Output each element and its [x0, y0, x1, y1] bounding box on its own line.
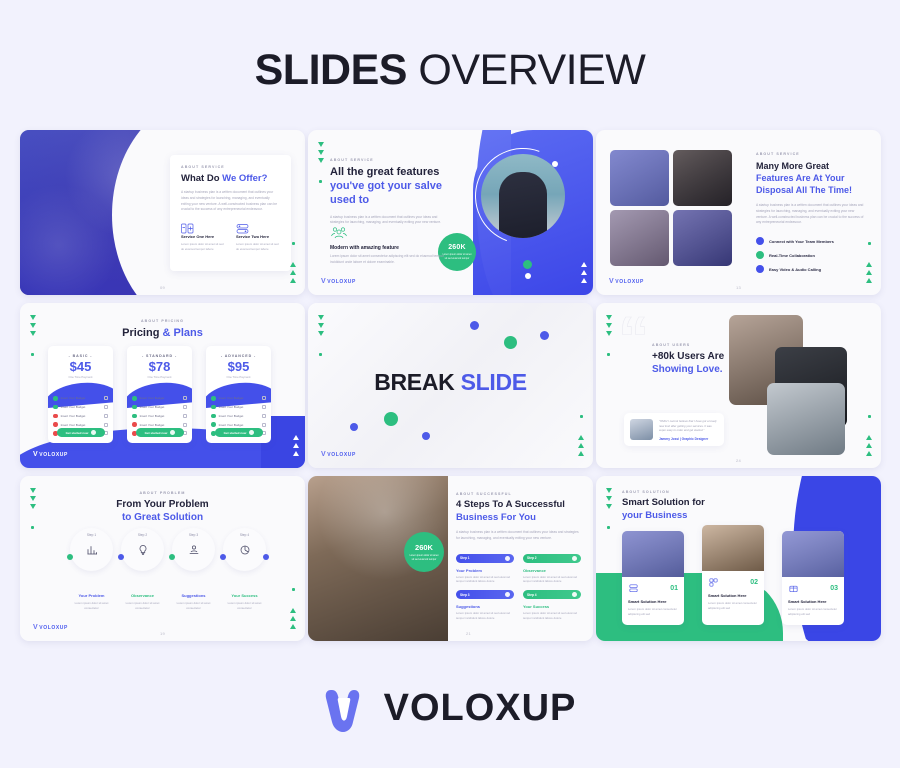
slide-pricing-plans[interactable]: ABOUT PRICING Pricing & Plans - BASIC - …	[20, 303, 305, 468]
feature-tail-icon	[262, 405, 266, 409]
slide-many-more-great[interactable]: ABOUT SERVICE Many More Great Features A…	[596, 130, 881, 295]
slide7-step-3-title: Suggestions	[168, 593, 219, 598]
triangle-down-icon	[606, 488, 612, 493]
slide9-card-3-number: 03	[830, 585, 838, 592]
slide7-deco-triangles-right	[290, 608, 296, 629]
check-icon	[211, 414, 216, 419]
slide5-deco-triangles-right	[578, 435, 584, 456]
slide-from-your-problem[interactable]: ABOUT PROBLEM From Your Problem to Great…	[20, 476, 305, 641]
triangle-down-icon	[606, 496, 612, 501]
slide-four-steps[interactable]: 260K Lorem ipsum dolor sit amet sit sed …	[308, 476, 593, 641]
slide6-photo-3	[767, 383, 845, 455]
slide1-feature-2: Service Two Here Lorem ipsum dolor sit a…	[236, 223, 280, 252]
slide1-title-blue: We Offer?	[222, 173, 267, 184]
chip-label: Step 2	[527, 556, 537, 560]
footer-brand: VOLOXUP	[0, 684, 900, 732]
list-item: Insert Your Budget	[132, 414, 187, 419]
slide7-step-2-title: Observance	[117, 593, 168, 598]
phone-icon	[756, 265, 764, 273]
layers-icon	[628, 583, 639, 594]
slide8-chip-2[interactable]: Step 2	[523, 554, 581, 563]
slide1-deco-triangles-right	[290, 262, 296, 283]
slide7-step-3: Step 3 Suggestions Lorem ipsum dolor sit…	[168, 528, 219, 611]
slide7-steps: Step 1 Your Problem Lorem ipsum dolor si…	[66, 528, 270, 611]
slide7-step-4-title: Your Success	[219, 593, 270, 598]
feature-label: Insert Your Budget	[140, 423, 165, 427]
slide8-step-4-desc: Lorem ipsum dolor sit amet sit sed eiusm…	[523, 611, 581, 621]
slide2-logo: V VOLOXUP	[321, 278, 356, 285]
slide2-title-blue: you've got your salve used to	[330, 180, 442, 206]
slide1-title-dark: What Do	[181, 173, 222, 184]
pricing-card-basic-cta[interactable]: Get started now	[57, 428, 105, 437]
chip-label: Step 4	[527, 593, 537, 597]
slide2-feature-desc: Lorem ipsum dolor sit amet consectetur a…	[330, 254, 450, 266]
triangle-up-icon	[290, 616, 296, 621]
triangle-up-icon	[578, 435, 584, 440]
slide8-chip-3[interactable]: Step 3	[456, 590, 514, 599]
slide5-dot-4	[350, 423, 358, 431]
slide8-step-3-title: Suggestions	[456, 604, 514, 609]
pricing-card-advanced-name: - ADVANCED -	[206, 354, 271, 358]
chip-label: Step 1	[460, 556, 470, 560]
slide3-logo-text: VOLOXUP	[615, 279, 644, 285]
slide2-title-dark: All the great features	[330, 166, 439, 178]
slide2-portrait-photo	[481, 154, 565, 238]
list-item: Easy Video & Audio Calling	[756, 265, 866, 273]
slide6-title-dark: +80k Users Are	[652, 351, 724, 362]
feature-label: Insert Your Budget	[61, 405, 86, 409]
slide7-step-3-caption: Suggestions Lorem ipsum dolor sit amet c…	[168, 593, 219, 611]
slide-break[interactable]: BREAK SLIDE V VOLOXUP	[308, 303, 593, 468]
slide5-title-blue: SLIDE	[461, 369, 527, 395]
slide9-card-2-thumb	[702, 525, 764, 571]
slide7-step-4-label: Step 4	[219, 533, 270, 537]
slide8-step-2-title: Observance	[523, 568, 581, 573]
slide1-feature-2-desc: Lorem ipsum dolor sit amet sit sed do ei…	[236, 242, 280, 252]
slide7-step-4: Step 4 Your Success Lorem ipsum dolor si…	[219, 528, 270, 611]
package-icon	[788, 583, 799, 594]
slide5-title-dark: BREAK	[374, 369, 460, 395]
slide9-card-2-desc: Lorem ipsum dolor sit amet consectetur a…	[708, 601, 758, 611]
slide7-step-1-caption: Your Problem Lorem ipsum dolor sit amet …	[66, 593, 117, 611]
slide4-title-blue: & Plans	[162, 327, 202, 339]
triangle-down-icon	[318, 158, 324, 163]
slide9-card-1[interactable]: 01 Smart Solution Here Lorem ipsum dolor…	[622, 531, 684, 625]
slide7-deco-triangles-left	[30, 488, 36, 509]
slide9-card-3-desc: Lorem ipsum dolor sit amet consectetur a…	[788, 607, 838, 617]
slide2-feature-title: Modern with amazing feature	[330, 245, 450, 251]
slide5-dot-5	[384, 412, 398, 426]
slide3-deco-dot	[868, 242, 871, 245]
slide6-deco-dot-right	[868, 415, 871, 418]
slide8-title-blue: Business For You	[456, 512, 536, 523]
pricing-card-standard-sub: One Time Payment	[127, 375, 192, 379]
feature-label: Insert Your Budget	[140, 405, 165, 409]
slide7-node-3	[169, 554, 175, 560]
list-item: Insert Your Budget	[211, 405, 266, 410]
slide8-badge-caption: Lorem ipsum dolor sit amet sit sed eiusm…	[404, 554, 444, 561]
slide3-photo-grid	[610, 150, 732, 266]
pricing-card-standard-name: - STANDARD -	[127, 354, 192, 358]
pricing-card-advanced[interactable]: - ADVANCED - $95 One Time Payment Insert…	[206, 346, 271, 443]
slide7-logo-text: VOLOXUP	[39, 625, 68, 631]
arrow-right-icon	[572, 556, 577, 561]
triangle-up-icon	[578, 451, 584, 456]
slide9-card-3[interactable]: 03 Smart Solution Here Lorem ipsum dolor…	[782, 531, 844, 625]
slide2-body: A startup business plan is a written doc…	[330, 215, 450, 227]
slide7-title-dark: From Your Problem	[116, 499, 208, 510]
triangle-down-icon	[318, 315, 324, 320]
triangle-down-icon	[606, 315, 612, 320]
check-icon	[53, 396, 58, 401]
slide8-chip-4[interactable]: Step 4	[523, 590, 581, 599]
cross-icon	[53, 414, 58, 419]
pricing-card-basic[interactable]: - BASIC - $45 One Time Payment Insert Yo…	[48, 346, 113, 443]
triangle-up-icon	[290, 278, 296, 283]
slide7-node-1	[67, 554, 73, 560]
slide3-list-label-2: Real-Time Collaboration	[769, 253, 815, 258]
page-title-bold: SLIDES	[255, 46, 407, 94]
slide1-body: A startup business plan is a written doc…	[181, 190, 280, 213]
slide9-card-1-desc: Lorem ipsum dolor sit amet consectetur a…	[628, 607, 678, 617]
slide6-deco-triangles-right	[866, 435, 872, 456]
slide8-step-3: Step 3 Suggestions Lorem ipsum dolor sit…	[456, 590, 514, 621]
slide4-pricing-cards: - BASIC - $45 One Time Payment Insert Yo…	[48, 346, 271, 443]
triangle-up-icon	[581, 270, 587, 275]
pricing-card-standard-price: $78	[127, 359, 192, 374]
slide3-page-number: 13	[736, 285, 741, 290]
slide2-logo-text: VOLOXUP	[327, 279, 356, 285]
triangle-up-icon	[290, 624, 296, 629]
slide1-page-number: 09	[160, 285, 165, 290]
slide9-deco-triangles-left	[606, 488, 612, 509]
list-item: Insert Your Budget	[211, 414, 266, 419]
slide8-step-1-desc: Lorem ipsum dolor sit amet sit sed eiusm…	[456, 575, 514, 585]
page-title-light: OVERVIEW	[418, 46, 645, 94]
slide9-cards: 01 Smart Solution Here Lorem ipsum dolor…	[622, 531, 844, 625]
brand-mark-icon: V	[33, 451, 38, 458]
slide7-node-end	[263, 554, 269, 560]
arrow-right-icon	[505, 556, 510, 561]
pricing-card-advanced-cta[interactable]: Get started now	[215, 428, 263, 437]
brand-mark-icon: V	[33, 624, 38, 631]
slide3-photo-1	[610, 150, 669, 206]
slide1-title: What Do We Offer?	[181, 173, 280, 184]
cross-icon	[53, 422, 58, 427]
refresh-icon	[756, 251, 764, 259]
slide6-testimonial-text: "OMG! I cannot believe that I have got a…	[659, 419, 718, 440]
arrow-right-icon	[91, 430, 96, 435]
slide5-deco-triangles-left	[318, 315, 324, 336]
triangle-down-icon	[30, 315, 36, 320]
triangle-down-icon	[318, 331, 324, 336]
triangle-up-icon	[293, 451, 299, 456]
slide4-title-dark: Pricing	[122, 327, 162, 339]
slide3-logo: V VOLOXUP	[609, 278, 644, 285]
check-icon	[132, 396, 137, 401]
feature-label: Insert Your Budget	[219, 423, 244, 427]
triangle-up-icon	[581, 278, 587, 283]
pricing-card-advanced-sub: One Time Payment	[206, 375, 271, 379]
slide8-chip-1[interactable]: Step 1	[456, 554, 514, 563]
triangle-up-icon	[866, 435, 872, 440]
list-item: Insert Your Budget	[53, 414, 108, 419]
slide1-feature-2-title: Service Two Here	[236, 234, 280, 239]
triangle-up-icon	[581, 262, 587, 267]
feature-tail-icon	[183, 423, 187, 427]
slide7-page-number: 19	[160, 631, 165, 636]
slide3-body: A startup business plan is a written doc…	[756, 203, 866, 226]
feature-label: Insert Your Budget	[140, 396, 165, 400]
slide2-title: All the great features you've got your s…	[330, 166, 450, 208]
page-title-space	[407, 46, 418, 94]
quote-mark-icon: “	[618, 315, 643, 365]
slide3-eyebrow: ABOUT SERVICE	[756, 152, 866, 156]
slide8-steps: Step 1 Your Problem Lorem ipsum dolor si…	[456, 554, 581, 621]
slide2-green-dot-2	[523, 260, 532, 269]
slide7-step-1: Step 1 Your Problem Lorem ipsum dolor si…	[66, 528, 117, 611]
slide9-card-3-row: 03	[788, 583, 838, 594]
pricing-card-standard-cta[interactable]: Get started now	[136, 428, 184, 437]
slide4-logo: V VOLOXUP	[33, 451, 68, 458]
feature-tail-icon	[104, 405, 108, 409]
slide2-eyebrow: ABOUT SERVICE	[330, 158, 450, 162]
arrow-right-icon	[505, 592, 510, 597]
feature-tail-icon	[183, 396, 187, 400]
slide8-badge-value: 260K	[404, 543, 444, 552]
slide5-logo-text: VOLOXUP	[327, 452, 356, 458]
slide3-deco-triangles-right	[866, 262, 872, 283]
slide5-logo: V VOLOXUP	[321, 451, 356, 458]
slide3-list-label-3: Easy Video & Audio Calling	[769, 267, 821, 272]
slide8-stat-badge: 260K Lorem ipsum dolor sit amet sit sed …	[404, 532, 444, 572]
feature-label: Insert Your Budget	[61, 396, 86, 400]
slide5-deco-dot-right	[580, 415, 583, 418]
triangle-down-icon	[318, 150, 324, 155]
slide2-text-block: ABOUT SERVICE All the great features you…	[330, 158, 450, 266]
slide3-list-label-1: Connect with Your Team Members	[769, 239, 834, 244]
slide7-node-2	[118, 554, 124, 560]
slide7-eyebrow: ABOUT PROBLEM	[20, 491, 305, 495]
check-icon	[53, 405, 58, 410]
list-item: Insert Your Budget	[211, 422, 266, 427]
slide1-feature-1-desc: Lorem ipsum dolor sit amet sit sed do ei…	[181, 242, 225, 252]
slide8-content: ABOUT SUCCESSFUL 4 Steps To A Successful…	[456, 492, 581, 621]
slide3-text-block: ABOUT SERVICE Many More Great Features A…	[756, 152, 866, 273]
slide8-step-2-desc: Lorem ipsum dolor sit amet sit sed eiusm…	[523, 575, 581, 585]
triangle-up-icon	[293, 435, 299, 440]
slide-smart-solution[interactable]: ABOUT SOLUTION Smart Solution for your B…	[596, 476, 881, 641]
check-icon	[132, 414, 137, 419]
check-icon	[132, 405, 137, 410]
slide-great-features[interactable]: 260K Lorem ipsum dolor sit amet sit sed …	[308, 130, 593, 295]
triangle-up-icon	[578, 443, 584, 448]
slide1-content-card: ABOUT SERVICE What Do We Offer? A startu…	[170, 155, 291, 271]
slide-grid: ABOUT SERVICE What Do We Offer? A startu…	[20, 130, 883, 641]
slide4-eyebrow: ABOUT PRICING	[20, 319, 305, 323]
slide2-white-dot-2	[525, 273, 531, 279]
feature-tail-icon	[262, 396, 266, 400]
slide5-dot-1	[470, 321, 479, 330]
slide9-card-2-body: 02 Smart Solution Here Lorem ipsum dolor…	[702, 571, 764, 619]
feature-label: Insert Your Budget	[219, 405, 244, 409]
slide8-title: 4 Steps To A Successful Business For You	[456, 499, 581, 524]
slide9-card-2[interactable]: 02 Smart Solution Here Lorem ipsum dolor…	[702, 525, 764, 625]
slide7-step-4-caption: Your Success Lorem ipsum dolor sit amet …	[219, 593, 270, 611]
slide7-step-2-caption: Observance Lorem ipsum dolor sit amet co…	[117, 593, 168, 611]
slide4-logo-text: VOLOXUP	[39, 452, 68, 458]
slide7-title-blue: to Great Solution	[122, 512, 203, 523]
blocks-icon	[708, 577, 719, 588]
cta-label: Get started now	[66, 431, 89, 435]
triangle-down-icon	[606, 323, 612, 328]
triangle-down-icon	[606, 504, 612, 509]
slide3-title: Many More Great Features Are At Your Dis…	[756, 160, 866, 196]
arrow-right-icon	[249, 430, 254, 435]
pricing-card-basic-price: $45	[48, 359, 113, 374]
slide5-dot-6	[422, 432, 430, 440]
slide4-deco-dot	[31, 353, 34, 356]
slide9-card-2-title: Smart Solution Here	[708, 593, 758, 598]
slide2-deco-triangles-right	[581, 262, 587, 283]
slide8-page-number: 21	[466, 631, 471, 636]
triangle-up-icon	[293, 443, 299, 448]
slide2-deco-dot	[319, 180, 322, 183]
slide3-photo-3	[610, 210, 669, 266]
slide7-step-1-label: Step 1	[66, 533, 117, 537]
slide6-page-number: 24	[736, 458, 741, 463]
slide5-title: BREAK SLIDE	[308, 369, 593, 396]
slide9-card-1-body: 01 Smart Solution Here Lorem ipsum dolor…	[622, 577, 684, 625]
pricing-card-basic-sub: One Time Payment	[48, 375, 113, 379]
slide5-deco-dot	[319, 353, 322, 356]
slide8-step-1-title: Your Problem	[456, 568, 514, 573]
slide7-node-4	[220, 554, 226, 560]
slide6-author: Jammy Jossi | Graphic Designer	[659, 437, 718, 441]
slide8-step-2: Step 2 Observance Lorem ipsum dolor sit …	[523, 554, 581, 585]
slide9-card-3-thumb	[782, 531, 844, 577]
triangle-down-icon	[30, 504, 36, 509]
list-item: Insert Your Budget	[53, 422, 108, 427]
slide4-header: ABOUT PRICING Pricing & Plans	[20, 319, 305, 339]
cta-label: Get started now	[224, 431, 247, 435]
slide4-deco-triangles-right	[293, 435, 299, 456]
slide5-dot-3	[540, 331, 549, 340]
slide9-card-1-title: Smart Solution Here	[628, 599, 678, 604]
feature-label: Insert Your Budget	[219, 396, 244, 400]
slide-users-showing-love[interactable]: “ ABOUT USERS +80k Users Are Showing Lov…	[596, 303, 881, 468]
slide9-title-blue: your Business	[622, 510, 687, 521]
feature-tail-icon	[183, 414, 187, 418]
pricing-card-basic-name: - BASIC -	[48, 354, 113, 358]
slide7-logo: V VOLOXUP	[33, 624, 68, 631]
cta-label: Get started now	[145, 431, 168, 435]
list-item: Insert Your Budget	[132, 422, 187, 427]
feature-tail-icon	[104, 414, 108, 418]
slide9-deco-dot	[607, 526, 610, 529]
page-title: SLIDES OVERVIEW	[0, 46, 900, 95]
triangle-up-icon	[290, 608, 296, 613]
slide9-title: Smart Solution for your Business	[622, 497, 762, 522]
triangle-up-icon	[290, 270, 296, 275]
feature-tail-icon	[104, 423, 108, 427]
slide6-photo-collage	[723, 315, 873, 457]
check-icon	[211, 396, 216, 401]
pricing-card-advanced-price: $95	[206, 359, 271, 374]
chip-label: Step 3	[460, 593, 470, 597]
slide9-card-1-thumb	[622, 531, 684, 577]
triangle-down-icon	[30, 496, 36, 501]
slide8-eyebrow: ABOUT SUCCESSFUL	[456, 492, 581, 496]
slide-what-do-we-offer[interactable]: ABOUT SERVICE What Do We Offer? A startu…	[20, 130, 305, 295]
slide1-features: Service One Here Lorem ipsum dolor sit a…	[181, 223, 280, 252]
list-item: Insert Your Budget	[132, 405, 187, 410]
feature-label: Insert Your Budget	[61, 423, 86, 427]
triangle-up-icon	[866, 451, 872, 456]
triangle-down-icon	[30, 488, 36, 493]
slide9-card-2-row: 02	[708, 577, 758, 588]
slide8-step-4: Step 4 Your Success Lorem ipsum dolor si…	[523, 590, 581, 621]
slide8-step-3-desc: Lorem ipsum dolor sit amet sit sed eiusm…	[456, 611, 514, 621]
page-header: SLIDES OVERVIEW	[0, 0, 900, 95]
slide9-title-dark: Smart Solution for	[622, 497, 705, 508]
feature-label: Insert Your Budget	[140, 414, 165, 418]
brand-mark-icon: V	[321, 451, 326, 458]
slide1-feature-1-title: Service One Here	[181, 234, 225, 239]
slide9-card-3-body: 03 Smart Solution Here Lorem ipsum dolor…	[782, 577, 844, 625]
feature-tail-icon	[183, 405, 187, 409]
slide6-deco-triangles-left	[606, 315, 612, 336]
slide3-photo-4	[673, 210, 732, 266]
slides-overview-page: SLIDES OVERVIEW ABOUT SERVICE What Do We…	[0, 0, 900, 768]
slide7-step-2-desc: Lorem ipsum dolor sit amet consectetur	[117, 601, 168, 611]
slide4-title: Pricing & Plans	[20, 327, 305, 339]
slide7-step-4-desc: Lorem ipsum dolor sit amet consectetur	[219, 601, 270, 611]
triangle-down-icon	[318, 142, 324, 147]
brand-mark-icon: V	[609, 278, 614, 285]
slide3-title-blue: Features Are At Your Disposal All The Ti…	[756, 173, 852, 195]
feature-tail-icon	[262, 423, 266, 427]
arrow-right-icon	[572, 592, 577, 597]
slide8-step-4-title: Your Success	[523, 604, 581, 609]
slide7-title: From Your Problem to Great Solution	[20, 498, 305, 524]
slide9-eyebrow: ABOUT SOLUTION	[622, 490, 762, 494]
slide1-feature-1: Service One Here Lorem ipsum dolor sit a…	[181, 223, 225, 252]
slide8-step-1: Step 1 Your Problem Lorem ipsum dolor si…	[456, 554, 514, 585]
slide7-step-1-desc: Lorem ipsum dolor sit amet consectetur	[66, 601, 117, 611]
check-icon	[211, 405, 216, 410]
triangle-down-icon	[318, 323, 324, 328]
slide4-deco-triangles-left	[30, 315, 36, 336]
slide7-step-1-title: Your Problem	[66, 593, 117, 598]
triangle-up-icon	[866, 270, 872, 275]
slide9-card-1-number: 01	[670, 585, 678, 592]
slide7-deco-dot-right	[292, 588, 295, 591]
list-item: Connect with Your Team Members	[756, 237, 866, 245]
triangle-down-icon	[30, 323, 36, 328]
triangle-up-icon	[866, 278, 872, 283]
list-item: Insert Your Budget	[53, 405, 108, 410]
slide9-card-2-number: 02	[750, 579, 758, 586]
pricing-card-standard[interactable]: - STANDARD - $78 One Time Payment Insert…	[127, 346, 192, 443]
slide9-card-3-title: Smart Solution Here	[788, 599, 838, 604]
cross-icon	[132, 422, 137, 427]
feature-label: Insert Your Budget	[219, 414, 244, 418]
feature-tail-icon	[262, 414, 266, 418]
slide7-header: ABOUT PROBLEM From Your Problem to Great…	[20, 491, 305, 524]
slide6-testimonial-card: "OMG! I cannot believe that I have got a…	[624, 413, 724, 446]
slide3-title-dark: Many More Great	[756, 161, 829, 171]
